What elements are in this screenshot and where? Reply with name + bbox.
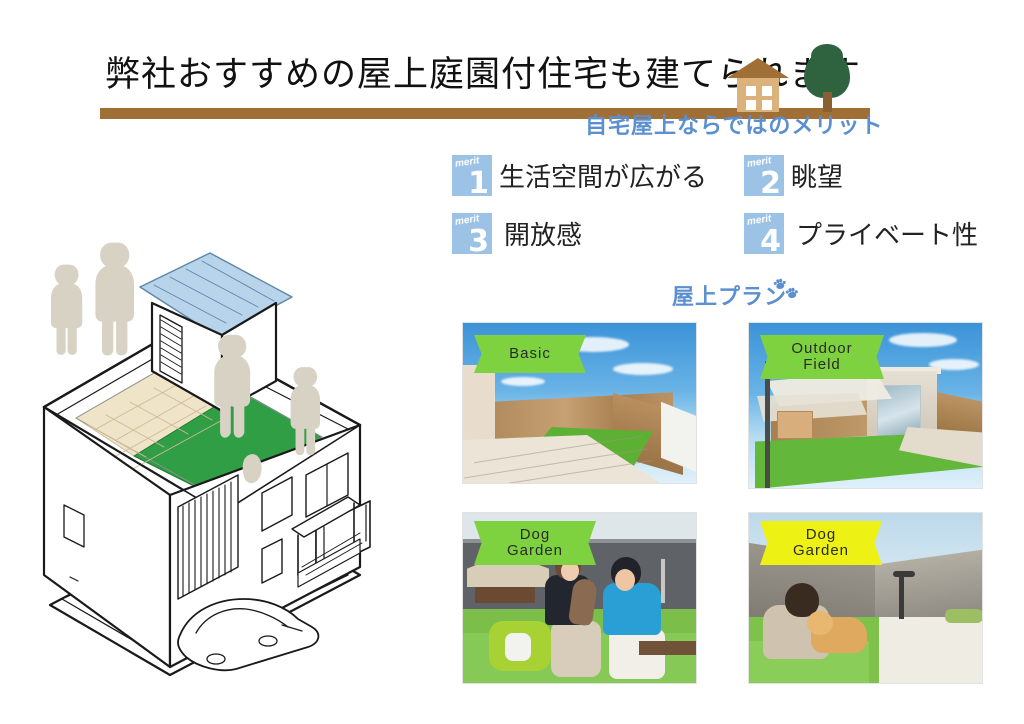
photo-dog-head xyxy=(807,611,833,635)
cloud xyxy=(501,377,545,386)
photo-bench xyxy=(639,641,697,655)
merit-number-4: 4 xyxy=(760,227,781,257)
photo-faucet-head xyxy=(893,571,915,577)
photo-faucet xyxy=(899,575,904,619)
tree-icon xyxy=(800,50,854,112)
merit-number-2: 2 xyxy=(760,169,781,199)
plan-photo-dog-garden-people[interactable]: Dog Garden xyxy=(462,512,697,684)
photo-hose xyxy=(661,559,665,603)
merit-item-3: merit 3 開放感 xyxy=(452,213,582,254)
photo-chair-inner xyxy=(505,633,531,661)
plan-ribbon-basic: Basic xyxy=(487,335,573,373)
plan-ribbon-dog-garden-green: Dog Garden xyxy=(487,521,583,565)
plan-ribbon-dog-garden-yellow: Dog Garden xyxy=(773,521,869,565)
photo-man-face xyxy=(615,569,635,591)
merit-list: merit 1 生活空間が広がる merit 2 眺望 merit 3 開放感 … xyxy=(452,155,982,260)
plan-ribbon-label-line1: Dog xyxy=(507,527,563,543)
merit-badge-2: merit 2 xyxy=(744,155,784,196)
plan-photo-outdoor-field[interactable]: Outdoor Field xyxy=(748,322,983,489)
photo-man-body xyxy=(603,583,661,635)
merit-badge-4: merit 4 xyxy=(744,213,784,254)
merit-item-2: merit 2 眺望 xyxy=(744,155,843,196)
photo-table xyxy=(475,587,535,603)
photo-storage-box xyxy=(777,411,813,439)
slide-root: 弊社おすすめの屋上庭園付住宅も建てられます 自宅屋上ならではのメリット meri… xyxy=(0,0,1024,724)
cloud xyxy=(613,363,673,375)
photo-pole xyxy=(765,361,770,489)
merit-number-1: 1 xyxy=(468,169,489,199)
merit-label-3: 開放感 xyxy=(504,215,582,252)
merit-item-4: merit 4 プライベート性 xyxy=(744,213,978,254)
photo-woman-legs xyxy=(551,621,601,677)
merit-label-2: 眺望 xyxy=(791,157,843,194)
merit-number-3: 3 xyxy=(468,227,489,257)
plan-ribbon-outdoor-field: Outdoor Field xyxy=(773,335,871,379)
merit-label-4: プライベート性 xyxy=(796,215,978,252)
merit-badge-1: merit 1 xyxy=(452,155,492,196)
photo-planter xyxy=(945,609,983,623)
plan-photo-basic[interactable]: Basic xyxy=(462,322,697,484)
merit-badge-3: merit 3 xyxy=(452,213,492,254)
plan-ribbon-label-line1: Dog xyxy=(793,527,849,543)
plan-ribbon-label-line2: Garden xyxy=(793,543,849,559)
plan-ribbon-label-line1: Outdoor xyxy=(791,341,852,357)
merit-item-1: merit 1 生活空間が広がる xyxy=(452,155,707,196)
plan-section-heading: 屋上プラン xyxy=(672,279,787,311)
plan-photo-dog-garden-retriever[interactable]: Dog Garden xyxy=(748,512,983,684)
merit-label-1: 生活空間が広がる xyxy=(499,157,707,194)
paw-print-icon xyxy=(772,279,808,305)
title-block: 弊社おすすめの屋上庭園付住宅も建てられます xyxy=(0,22,1024,102)
plan-ribbon-label: Basic xyxy=(509,346,551,362)
plan-ribbon-label-line2: Garden xyxy=(507,543,563,559)
house-icon xyxy=(727,58,789,112)
subtitle: 自宅屋上ならではのメリット xyxy=(585,108,883,140)
cloud xyxy=(889,333,957,347)
rooftop-house-illustration xyxy=(30,175,440,695)
plan-ribbon-label-line2: Field xyxy=(791,357,852,373)
